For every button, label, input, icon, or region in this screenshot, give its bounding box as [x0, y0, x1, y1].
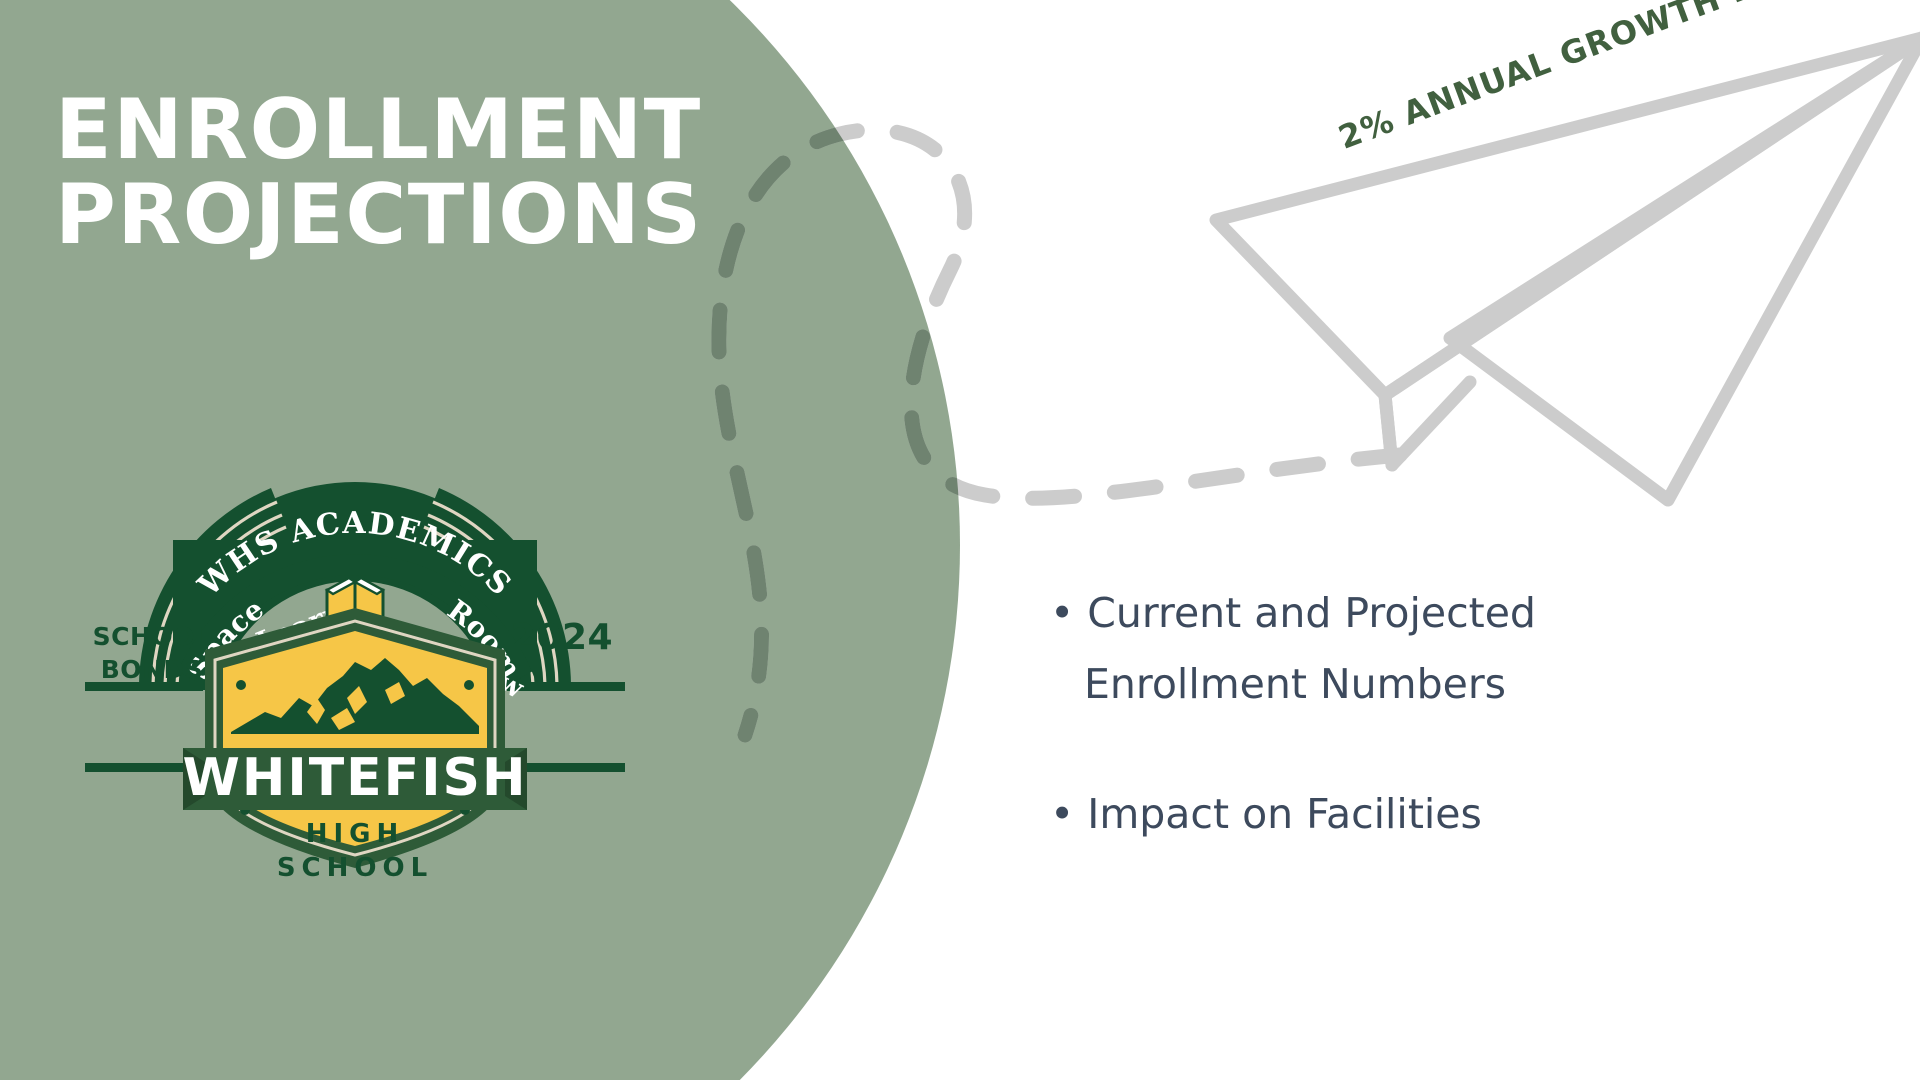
whitefish-shield: WHITEFISH HIGH SCHOOL — [182, 608, 527, 883]
logo-graphic: WHS ACADEMICS Space Room to Learn to Gro… — [55, 480, 655, 900]
logo-school-bonds-line-1: SCHOOL — [77, 620, 227, 653]
whs-academics-logo: WHS ACADEMICS Space Room to Learn to Gro… — [55, 480, 655, 900]
logo-school-bonds-line-2: BONDS — [77, 653, 227, 686]
page-title: ENROLLMENT PROJECTIONS — [55, 88, 815, 257]
logo-school-bonds-label: SCHOOL BONDS — [77, 620, 227, 686]
bullet-marker: • — [1050, 589, 1074, 637]
shield-sub-2: SCHOOL — [277, 853, 433, 883]
logo-year-label: 2024 — [487, 620, 637, 656]
page-title-line-2: PROJECTIONS — [55, 173, 815, 258]
bullet-text: Current and Projected Enrollment Numbers — [1084, 589, 1536, 708]
slide-canvas: 2% ANNUAL GROWTH RATE • Current and Proj… — [0, 0, 1920, 1080]
list-item: • Impact on Facilities — [1050, 779, 1730, 850]
shield-sub-1: HIGH — [306, 819, 405, 849]
paper-plane-icon — [1180, 20, 1920, 520]
bullet-marker: • — [1050, 790, 1074, 838]
list-item: • Current and Projected Enrollment Numbe… — [1050, 578, 1730, 719]
bullet-text: Impact on Facilities — [1087, 790, 1482, 838]
plane-growth-rate-label: 2% ANNUAL GROWTH RATE — [1333, 0, 1826, 157]
page-title-line-1: ENROLLMENT — [55, 88, 815, 173]
bullet-list: • Current and Projected Enrollment Numbe… — [1050, 578, 1730, 850]
shield-banner-text: WHITEFISH — [182, 748, 527, 808]
